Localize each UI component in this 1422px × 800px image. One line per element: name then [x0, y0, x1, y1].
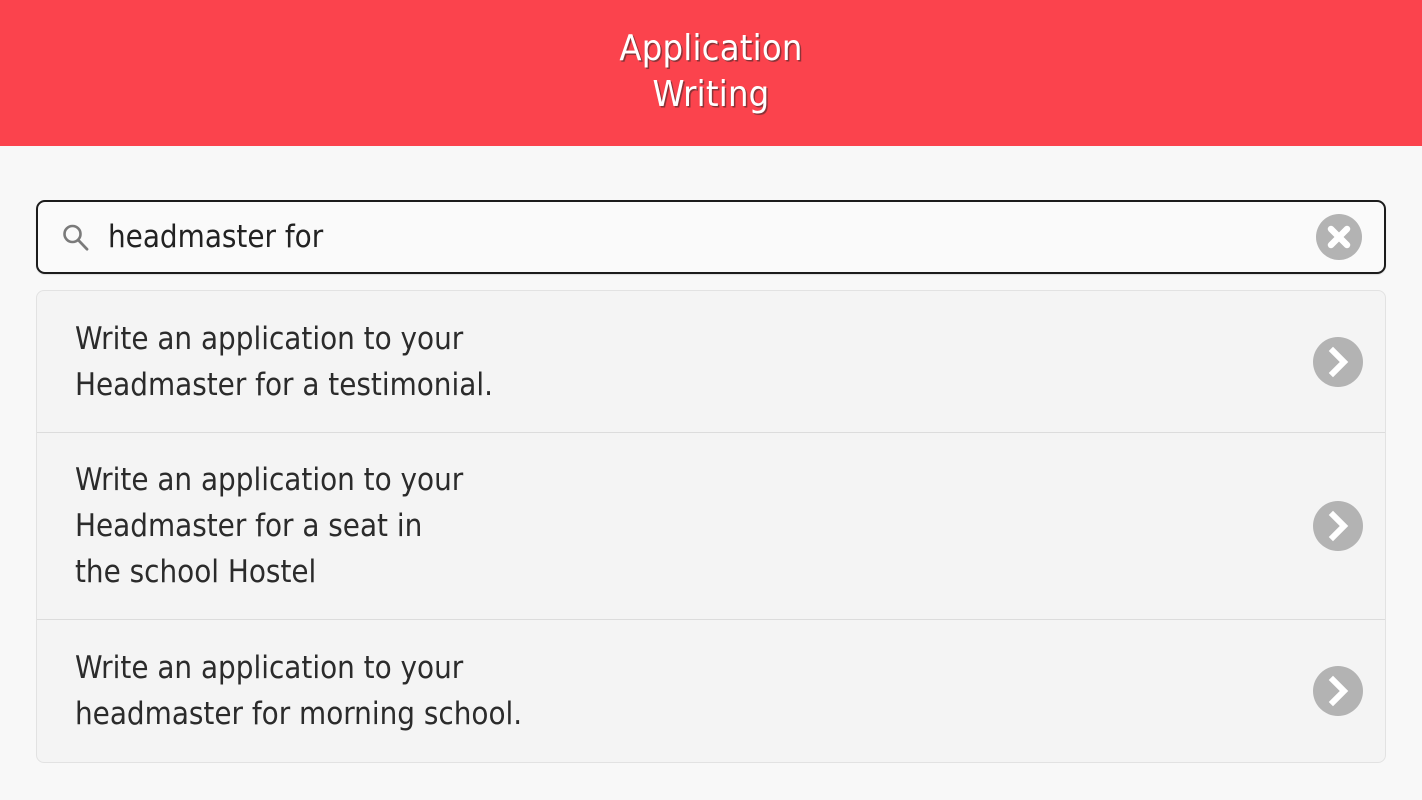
list-item-label: Write an application to your Headmaster …	[75, 292, 1295, 432]
search-results-list: Write an application to your Headmaster …	[36, 290, 1386, 763]
open-item-button[interactable]	[1313, 501, 1363, 551]
search-input[interactable]	[108, 219, 1316, 255]
chevron-right-icon	[1313, 337, 1363, 387]
search-icon	[60, 222, 90, 252]
content-area: Write an application to your Headmaster …	[0, 200, 1422, 763]
search-bar[interactable]	[36, 200, 1386, 274]
list-item-label: Write an application to your Headmaster …	[75, 433, 1295, 619]
page-title: Application Writing	[619, 26, 802, 120]
list-item[interactable]: Write an application to your headmaster …	[37, 620, 1385, 762]
close-icon	[1316, 214, 1362, 260]
clear-search-button[interactable]	[1316, 214, 1362, 260]
list-item[interactable]: Write an application to your Headmaster …	[37, 291, 1385, 433]
chevron-right-icon	[1313, 666, 1363, 716]
list-item[interactable]: Write an application to your Headmaster …	[37, 433, 1385, 620]
open-item-button[interactable]	[1313, 666, 1363, 716]
app-header: Application Writing	[0, 0, 1422, 146]
list-item-label: Write an application to your headmaster …	[75, 621, 1295, 761]
open-item-button[interactable]	[1313, 337, 1363, 387]
chevron-right-icon	[1313, 501, 1363, 551]
